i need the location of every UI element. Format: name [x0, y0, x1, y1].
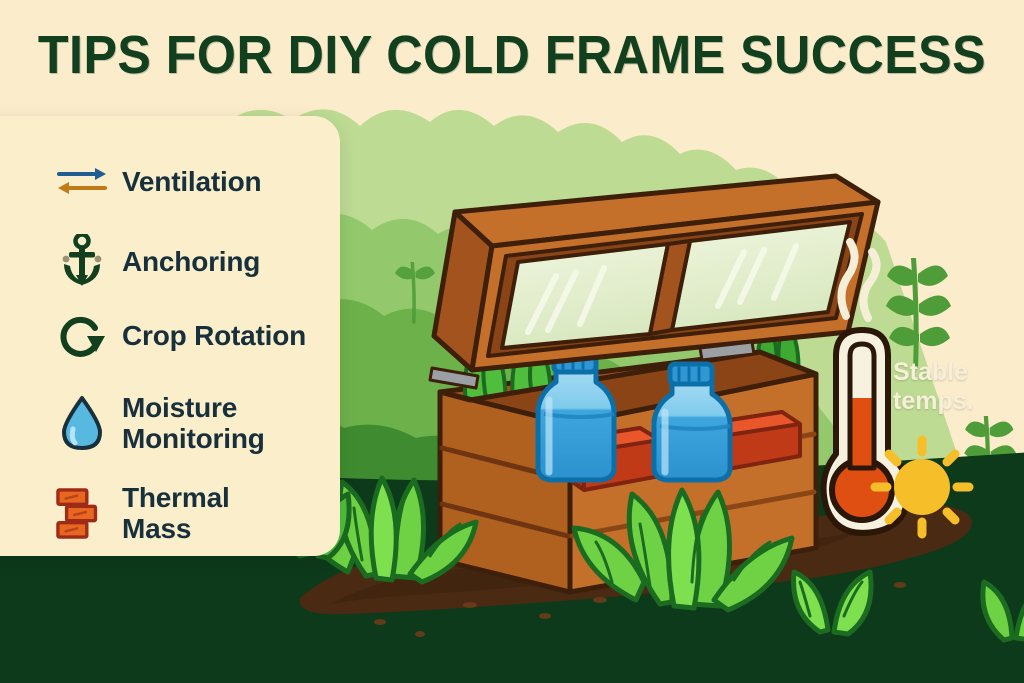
legend-label-ventilation: Ventilation	[122, 166, 261, 197]
page-title: TIPS FOR DIY COLD FRAME SUCCESS	[36, 26, 988, 84]
tips-legend-card: Ventilation	[0, 116, 340, 556]
anchor-icon	[56, 234, 108, 288]
legend-item-anchoring[interactable]: Anchoring	[56, 234, 260, 288]
legend-item-ventilation[interactable]: Ventilation	[56, 154, 261, 208]
legend-item-thermal-mass[interactable]: Thermal Mass	[56, 482, 297, 544]
bricks-icon	[56, 486, 108, 540]
water-drop-icon	[56, 396, 108, 450]
infographic-poster: TIPS FOR DIY COLD FRAME SUCCESS	[0, 0, 1024, 683]
legend-label-thermal-mass: Thermal Mass	[122, 482, 297, 544]
legend-label-moisture-monitoring: Moisture Monitoring	[122, 392, 327, 454]
stable-temps-callout: Stable temps.	[893, 358, 1013, 416]
legend-label-anchoring: Anchoring	[122, 246, 260, 277]
sun-icon	[875, 440, 969, 534]
legend-item-moisture-monitoring[interactable]: Moisture Monitoring	[56, 392, 327, 454]
two-way-arrows-icon	[56, 154, 108, 208]
legend-item-crop-rotation[interactable]: Crop Rotation	[56, 308, 312, 362]
rotation-arrow-icon	[56, 308, 108, 362]
legend-label-crop-rotation: Crop Rotation	[122, 320, 312, 351]
tips-legend-list: Ventilation	[56, 136, 326, 536]
